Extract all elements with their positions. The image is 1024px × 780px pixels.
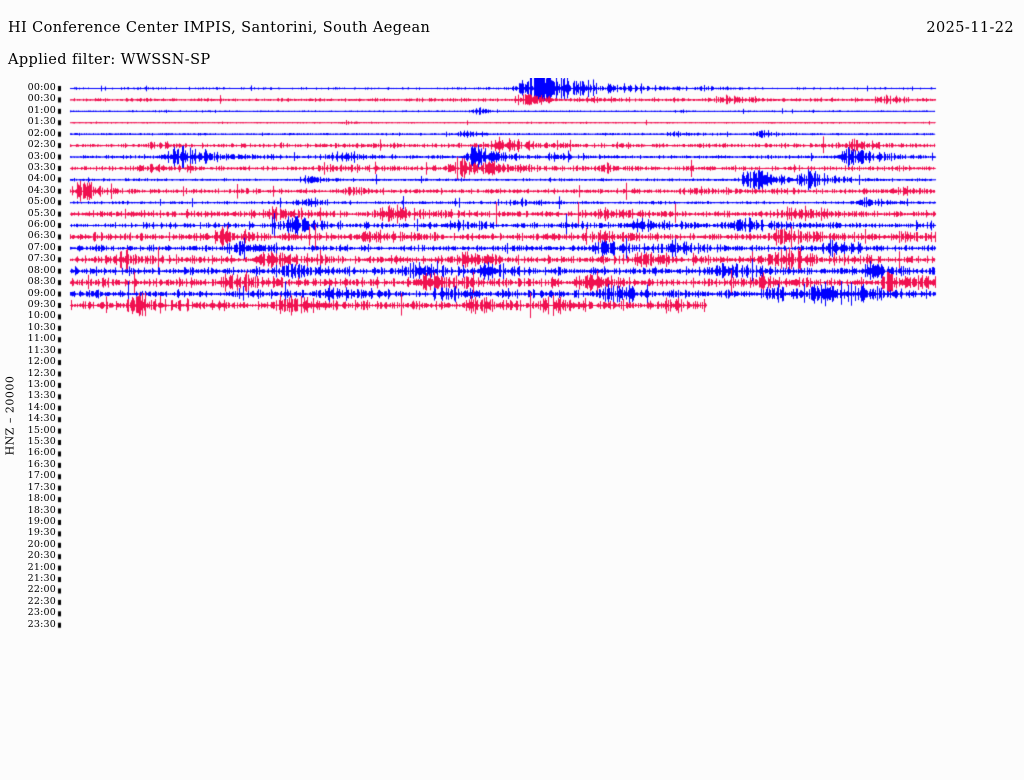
helicorder-plot: 00:0000:3001:0001:3002:0002:3003:0003:30… <box>0 78 1024 778</box>
station-title: HI Conference Center IMPIS, Santorini, S… <box>8 20 430 36</box>
applied-filter-label: Applied filter: WWSSN-SP <box>8 52 211 68</box>
seismogram-traces <box>0 78 1024 778</box>
record-date: 2025-11-22 <box>926 20 1014 36</box>
